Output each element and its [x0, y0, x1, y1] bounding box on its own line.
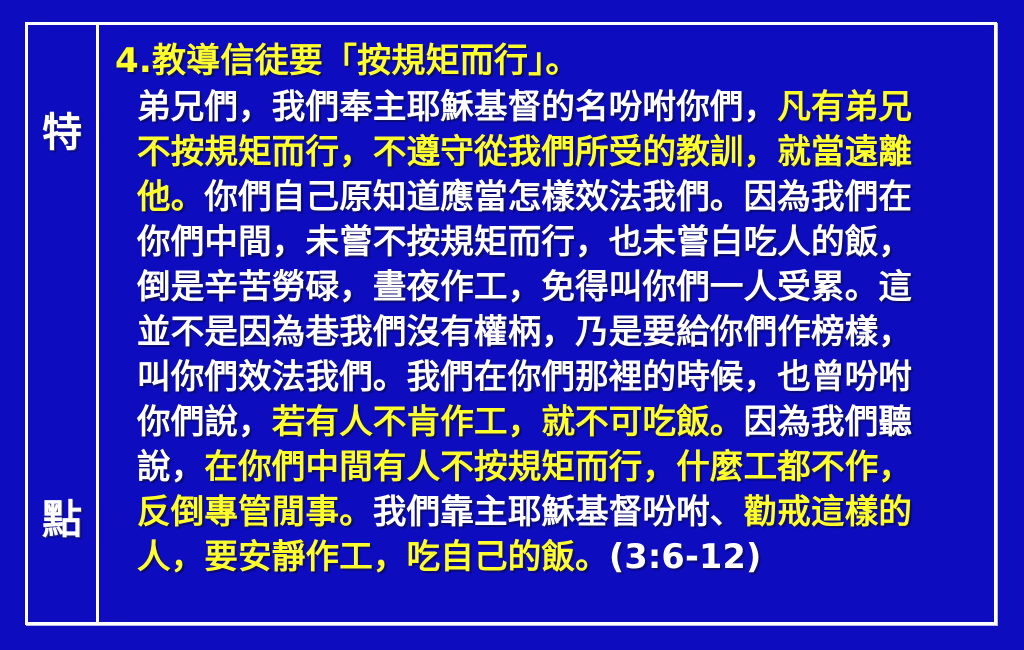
sidebar-char-bottom: 點: [42, 500, 82, 540]
body-text-segment: 你們說，: [137, 402, 272, 441]
highlighted-text-segment: 反倒專管閒事。: [137, 492, 373, 531]
content-line: 叫你們效法我們。我們在你們那裡的時候，也曾吩咐: [113, 354, 986, 399]
content-line: 你們中間，未嘗不按規矩而行，也未嘗白吃人的飯，: [113, 219, 986, 264]
body-text-segment: 我們靠主耶穌基督吩咐、: [373, 492, 744, 531]
highlighted-text-segment: 他。: [137, 177, 204, 216]
body-text-segment: 並不是因為巷我們沒有權柄，乃是要給你們作榜樣，: [137, 312, 912, 351]
content-line: 說，在你們中間有人不按規矩而行，什麼工都不作，: [113, 444, 986, 489]
body-text-segment: 說，: [137, 447, 204, 486]
content-line: 他。你們自己原知道應當怎樣效法我們。因為我們在: [113, 174, 986, 219]
content-line: 人，要安靜作工，吃自己的飯。(3:6-12): [113, 534, 986, 579]
body-text-segment: 倒是辛苦勞碌，晝夜作工，免得叫你們一人受累。這: [137, 267, 912, 306]
content-title: 4.教導信徒要「按規矩而行」。: [113, 39, 986, 84]
highlighted-text-segment: 凡有弟兄: [777, 87, 912, 126]
body-text-segment: 因為我們聽: [744, 402, 913, 441]
content-line: 並不是因為巷我們沒有權柄，乃是要給你們作榜樣，: [113, 309, 986, 354]
slide-frame: 特 點 4.教導信徒要「按規矩而行」。 弟兄們，我們奉主耶穌基督的名吩咐你們，凡…: [25, 22, 997, 625]
highlighted-text-segment: 不按規矩而行，不遵守從我們所受的教訓，就當遠離: [137, 132, 912, 171]
highlighted-text-segment: 在你們中間有人不按規矩而行，什麼工都不作，: [204, 447, 912, 486]
slide-canvas: 特 點 4.教導信徒要「按規矩而行」。 弟兄們，我們奉主耶穌基督的名吩咐你們，凡…: [0, 0, 1024, 650]
body-text-segment: 你們中間，未嘗不按規矩而行，也未嘗白吃人的飯，: [137, 222, 912, 261]
title-number: 4.: [115, 41, 152, 81]
content-column: 4.教導信徒要「按規矩而行」。 弟兄們，我們奉主耶穌基督的名吩咐你們，凡有弟兄不…: [99, 25, 994, 622]
content-line: 反倒專管閒事。我們靠主耶穌基督吩咐、勸戒這樣的: [113, 489, 986, 534]
content-lines: 弟兄們，我們奉主耶穌基督的名吩咐你們，凡有弟兄不按規矩而行，不遵守從我們所受的教…: [113, 84, 986, 579]
body-text-segment: (3:6-12): [609, 537, 762, 576]
body-text-segment: 弟兄們，我們奉主耶穌基督的名吩咐你們，: [137, 87, 777, 126]
title-text: 教導信徒要「按規矩而行」。: [152, 41, 580, 81]
sidebar-char-top: 特: [42, 113, 82, 153]
highlighted-text-segment: 勸戒這樣的: [744, 492, 913, 531]
content-line: 不按規矩而行，不遵守從我們所受的教訓，就當遠離: [113, 129, 986, 174]
body-text-segment: 你們自己原知道應當怎樣效法我們。因為我們在: [204, 177, 912, 216]
highlighted-text-segment: 人，要安靜作工，吃自己的飯。: [137, 537, 609, 576]
content-line: 你們說，若有人不肯作工，就不可吃飯。因為我們聽: [113, 399, 986, 444]
body-text-segment: 叫你們效法我們。我們在你們那裡的時候，也曾吩咐: [137, 357, 912, 396]
sidebar-column: 特 點: [28, 25, 99, 622]
highlighted-text-segment: 若有人不肯作工，就不可吃飯。: [272, 402, 744, 441]
content-line: 倒是辛苦勞碌，晝夜作工，免得叫你們一人受累。這: [113, 264, 986, 309]
content-line: 弟兄們，我們奉主耶穌基督的名吩咐你們，凡有弟兄: [113, 84, 986, 129]
